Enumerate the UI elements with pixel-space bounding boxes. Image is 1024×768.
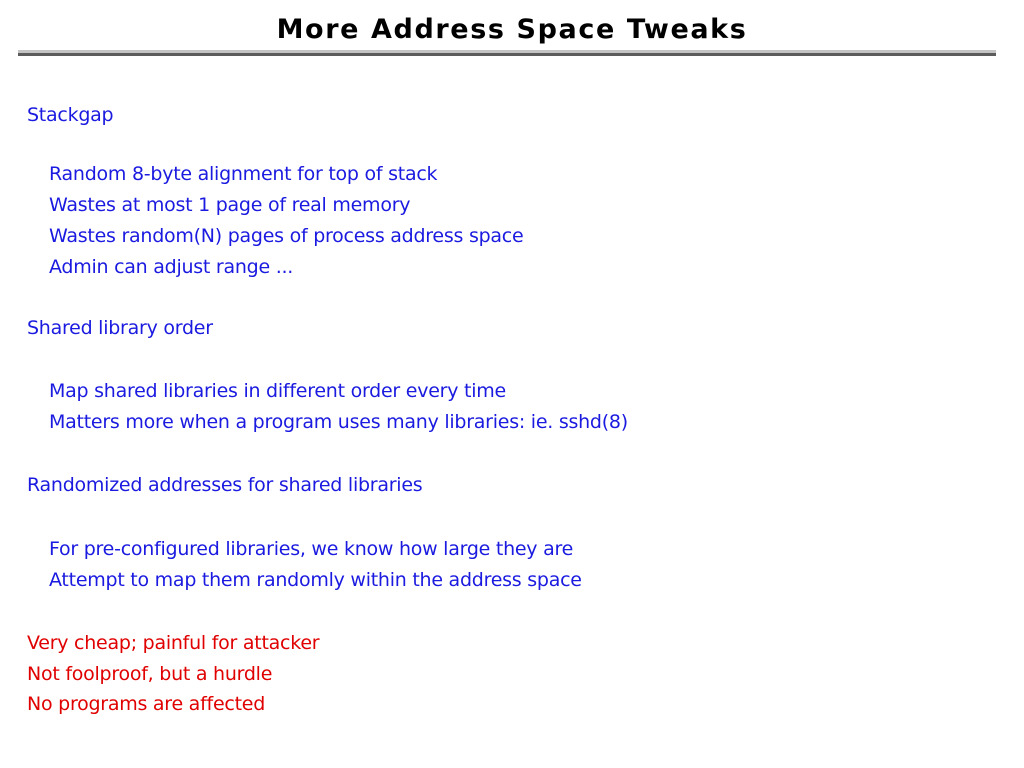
bullet-line: Wastes at most 1 page of real memory: [49, 193, 410, 217]
bullet-line: Matters more when a program uses many li…: [49, 410, 628, 434]
bullet-line: Attempt to map them randomly within the …: [49, 568, 582, 592]
bullet-line: No programs are affected: [27, 692, 265, 716]
bullet-line: Randomized addresses for shared librarie…: [27, 473, 422, 497]
bullet-line: Map shared libraries in different order …: [49, 379, 506, 403]
bullet-line: Shared library order: [27, 316, 213, 340]
bullet-line: Stackgap: [27, 103, 113, 127]
bullet-line: For pre-configured libraries, we know ho…: [49, 537, 573, 561]
bullet-line: Random 8-byte alignment for top of stack: [49, 162, 437, 186]
bullet-line: Wastes random(N) pages of process addres…: [49, 224, 523, 248]
bullet-line: Very cheap; painful for attacker: [27, 631, 319, 655]
bullet-line: Not foolproof, but a hurdle: [27, 662, 272, 686]
slide-body: StackgapRandom 8-byte alignment for top …: [0, 0, 1024, 768]
slide-canvas: More Address Space Tweaks StackgapRandom…: [0, 0, 1024, 768]
bullet-line: Admin can adjust range ...: [49, 255, 293, 279]
